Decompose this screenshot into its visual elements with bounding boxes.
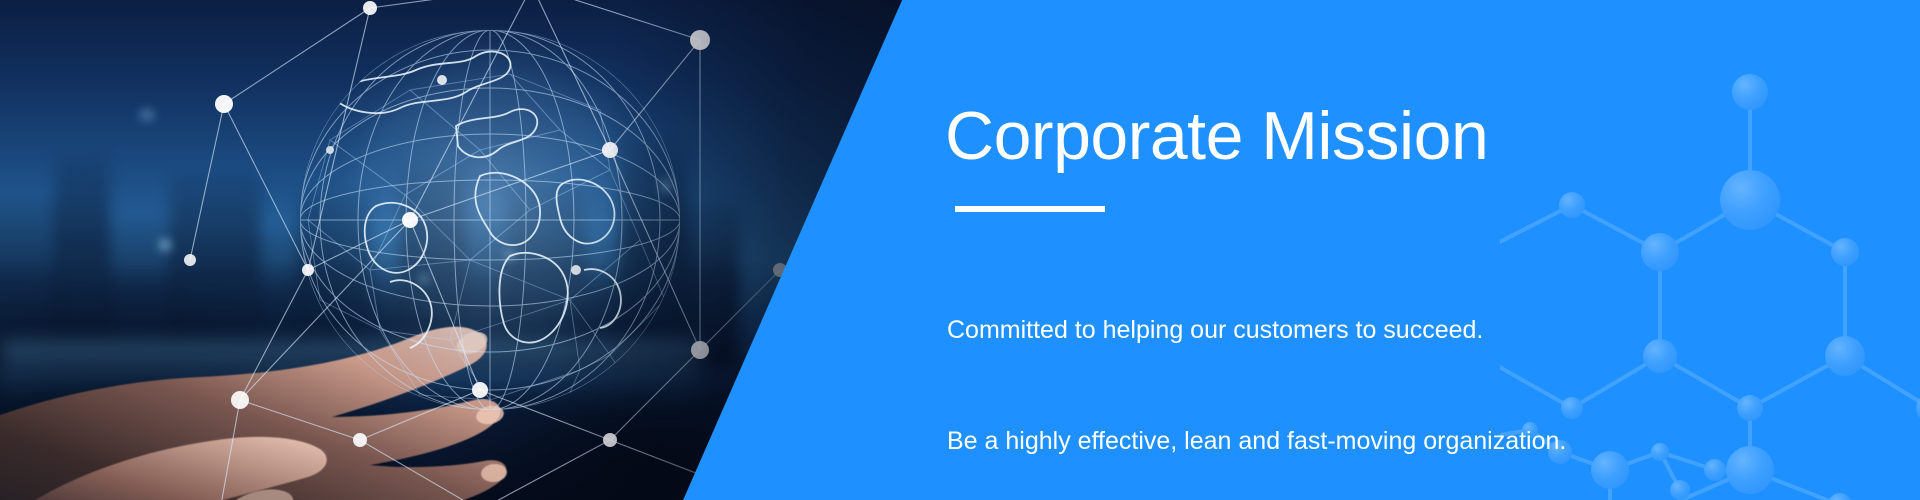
mission-statement: Committed to helping our customers to su… [947,238,1845,500]
page-title: Corporate Mission [945,96,1845,176]
corporate-mission-banner: Corporate Mission Committed to helping o… [0,0,1920,500]
title-divider [955,206,1105,212]
city-light [160,240,170,250]
mission-line: Committed to helping our customers to su… [947,312,1845,349]
city-light [140,110,154,120]
wireframe-globe-network [180,0,800,500]
mission-line: Be a highly effective, lean and fast-mov… [947,423,1845,460]
banner-text-block: Corporate Mission Committed to helping o… [945,96,1845,500]
